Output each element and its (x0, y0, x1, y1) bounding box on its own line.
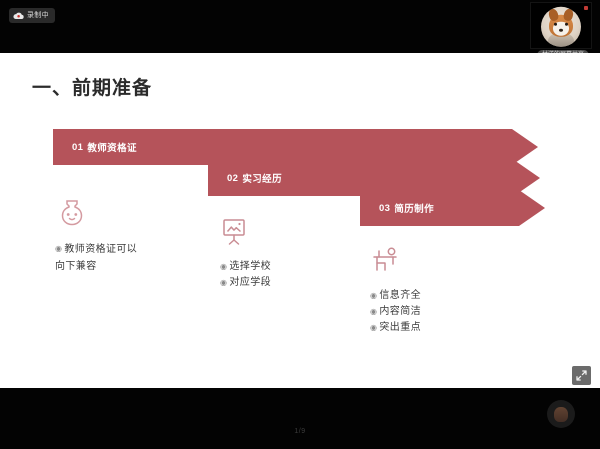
webcam-overlay[interactable] (530, 2, 592, 49)
screen-share-window: 录制中 林洋的屏幕共享 印 CERTIFIED 一、前期准备 01 教师资格证 (0, 0, 600, 449)
process-arrow-1: 01 教师资格证 (53, 129, 538, 165)
content-group-1: ◉ 教师资格证可以 向下兼容 (55, 195, 175, 275)
bullet-item: ◉ 内容简洁 (370, 304, 470, 320)
bullet-marker-icon: ◉ (220, 275, 227, 291)
bullet-text: 突出重点 (379, 320, 421, 336)
process-arrow-2-number: 02 (227, 173, 238, 184)
bullet-text: 教师资格证可以 (64, 241, 137, 258)
bullet-item: ◉ 突出重点 (370, 320, 470, 336)
bullet-text: 内容简洁 (379, 304, 421, 320)
bullet-text: 信息齐全 (379, 288, 421, 304)
process-arrow-1-label: 教师资格证 (87, 140, 137, 154)
content-group-2: ◉ 选择学校 ◉ 对应学段 (220, 217, 320, 291)
process-arrow-2-label: 实习经历 (242, 171, 282, 185)
page-title: 一、前期准备 (32, 73, 152, 100)
avatar-eye-left (554, 22, 557, 25)
recording-indicator-dot (584, 6, 588, 10)
jar-icon (55, 195, 175, 234)
process-arrow-3-label: 简历制作 (394, 201, 434, 215)
bullet-item: ◉ 信息齐全 (370, 288, 470, 304)
recording-badge: 录制中 (9, 8, 55, 23)
expand-icon (576, 370, 587, 381)
presentation-slide: 一、前期准备 01 教师资格证 02 实习经历 03 简历制作 (0, 53, 600, 388)
avatar-nose (559, 28, 563, 31)
bullet-marker-icon: ◉ (55, 241, 62, 257)
content-group-3: ◉ 信息齐全 ◉ 内容简洁 ◉ 突出重点 (370, 246, 470, 336)
dog-avatar (541, 6, 581, 46)
process-arrow-1-number: 01 (72, 142, 83, 153)
recording-badge-label: 录制中 (27, 12, 49, 19)
page-indicator: 1/9 (0, 428, 600, 435)
bullet-text: 选择学校 (229, 259, 271, 275)
bullet-text: 对应学段 (229, 275, 271, 291)
desk-icon (370, 246, 470, 281)
bullet-marker-icon: ◉ (220, 259, 227, 275)
self-view-avatar (554, 407, 568, 422)
bullet-item: 向下兼容 (55, 258, 175, 275)
avatar-ear-right (563, 7, 575, 21)
bullet-item: ◉ 对应学段 (220, 275, 320, 291)
bullet-item: ◉ 教师资格证可以 (55, 241, 175, 258)
process-arrow-3: 03 简历制作 (360, 190, 545, 226)
bullet-marker-icon: ◉ (370, 304, 377, 320)
bullet-marker-icon: ◉ (370, 320, 377, 336)
process-arrow-3-number: 03 (379, 203, 390, 214)
bullet-item: ◉ 选择学校 (220, 259, 320, 275)
self-view-avatar-button[interactable] (547, 400, 575, 428)
avatar-eye-right (565, 22, 568, 25)
bullet-text: 向下兼容 (55, 258, 97, 275)
cloud-record-icon (13, 11, 24, 20)
expand-button[interactable] (572, 366, 591, 385)
presentation-board-icon (220, 217, 320, 252)
bullet-marker-icon: ◉ (370, 288, 377, 304)
